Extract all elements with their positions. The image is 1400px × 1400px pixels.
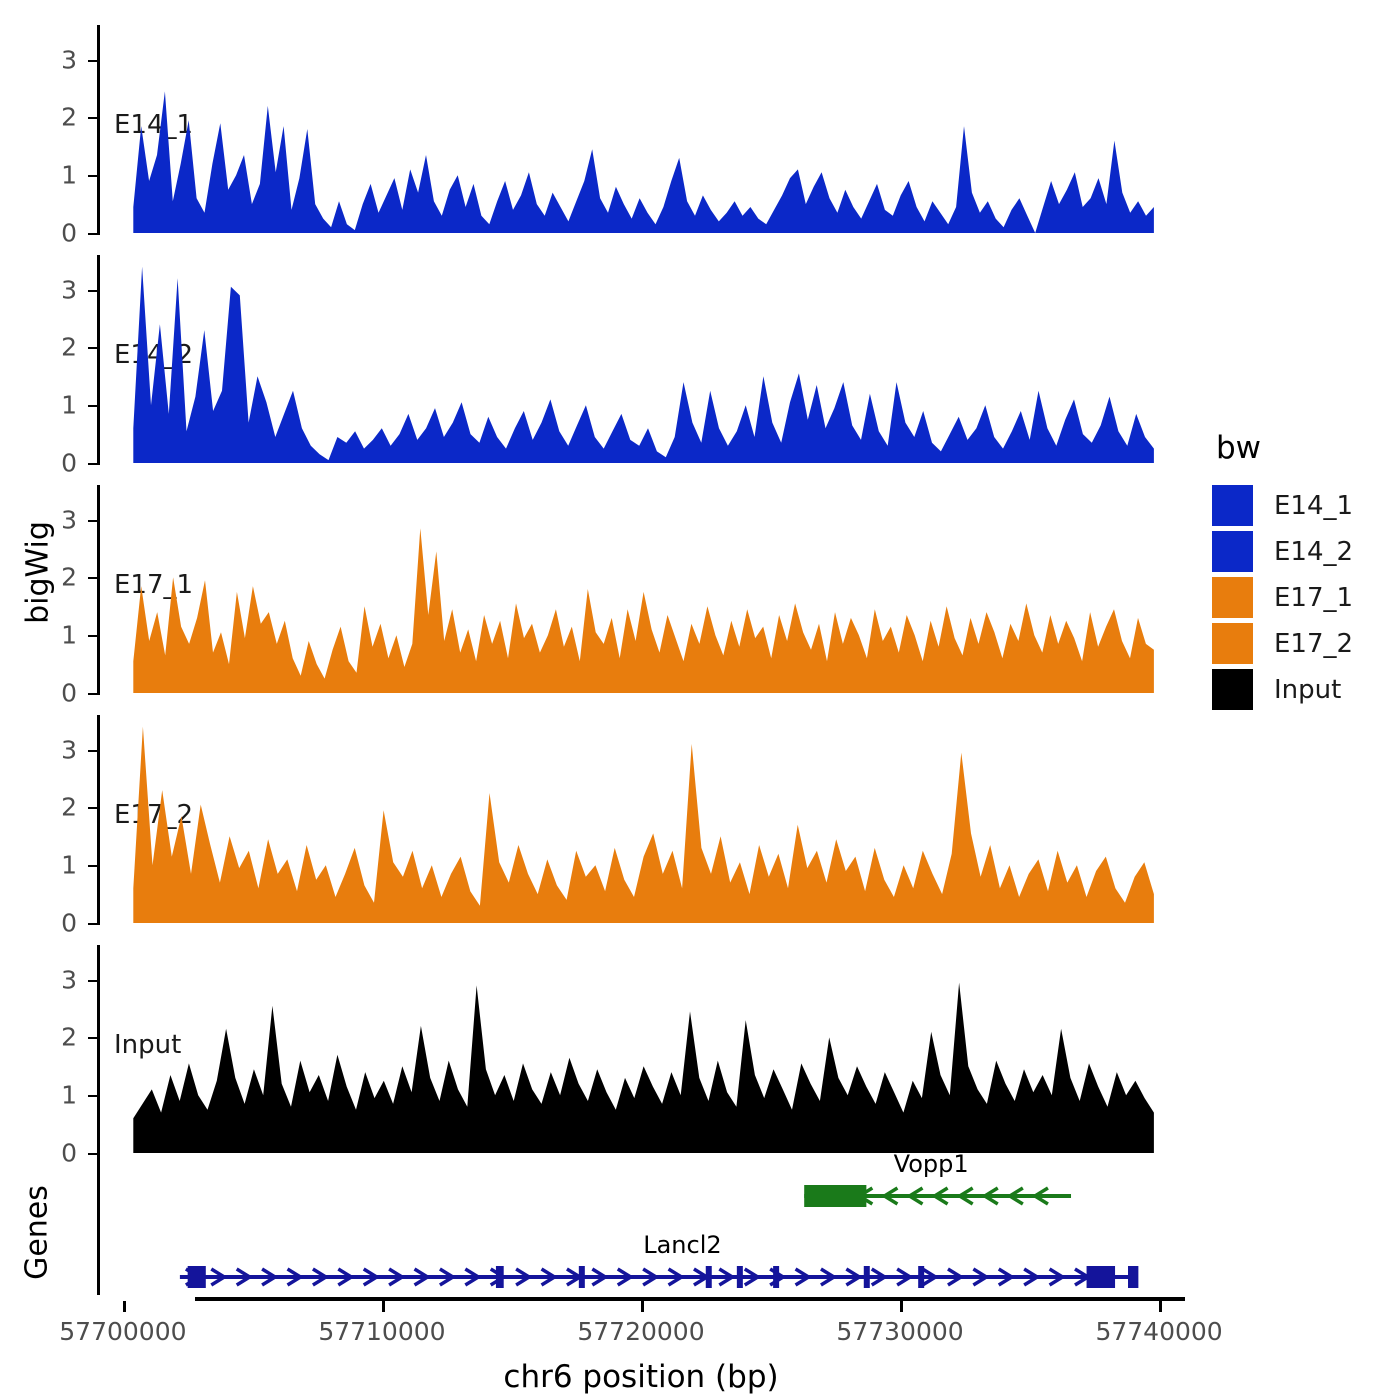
wig-area-input [0, 945, 1400, 1155]
gene-label-vopp1: Vopp1 [894, 1150, 969, 1178]
gene-model-lancl2[interactable] [0, 1257, 1400, 1297]
wig-area-e14_2 [0, 255, 1400, 465]
legend-swatch-e14_2 [1212, 531, 1253, 572]
gene-label-lancl2: Lancl2 [643, 1231, 721, 1259]
x-tick-label: 57700000 [59, 1317, 186, 1346]
genome-browser-figure: bigWig Genes 0123E14_10123E14_20123E17_1… [0, 0, 1400, 1400]
legend-label: E14_2 [1274, 537, 1353, 567]
legend-swatch-e17_2 [1212, 623, 1253, 664]
x-tick [900, 1301, 903, 1312]
legend-title: bw [1216, 430, 1261, 466]
x-tick [1159, 1301, 1162, 1312]
legend-label: E14_1 [1274, 491, 1353, 521]
wig-area-e17_2 [0, 715, 1400, 925]
legend-item-e14_2[interactable]: E14_2 [1212, 531, 1353, 572]
x-tick [123, 1301, 126, 1312]
legend-swatch-e17_1 [1212, 577, 1253, 618]
legend-label: Input [1274, 675, 1341, 705]
legend-label: E17_2 [1274, 629, 1353, 659]
wig-area-e14_1 [0, 25, 1400, 235]
legend-item-e17_2[interactable]: E17_2 [1212, 623, 1353, 664]
track-panel-input: 0123Input [0, 0, 1400, 1]
legend-label: E17_1 [1274, 583, 1353, 613]
x-tick-label: 57720000 [577, 1317, 704, 1346]
legend-item-input[interactable]: Input [1212, 669, 1341, 710]
gene-model-vopp1[interactable] [0, 1176, 1400, 1216]
x-tick [382, 1301, 385, 1312]
legend-swatch-e14_1 [1212, 485, 1253, 526]
x-tick-label: 57740000 [1095, 1317, 1222, 1346]
x-tick-label: 57710000 [318, 1317, 445, 1346]
legend-swatch-input [1212, 669, 1253, 710]
x-tick-label: 57730000 [836, 1317, 963, 1346]
legend-item-e17_1[interactable]: E17_1 [1212, 577, 1353, 618]
legend-item-e14_1[interactable]: E14_1 [1212, 485, 1353, 526]
x-tick [641, 1301, 644, 1312]
x-axis-title: chr6 position (bp) [503, 1359, 778, 1395]
wig-area-e17_1 [0, 485, 1400, 695]
x-axis-line [195, 1297, 1185, 1301]
